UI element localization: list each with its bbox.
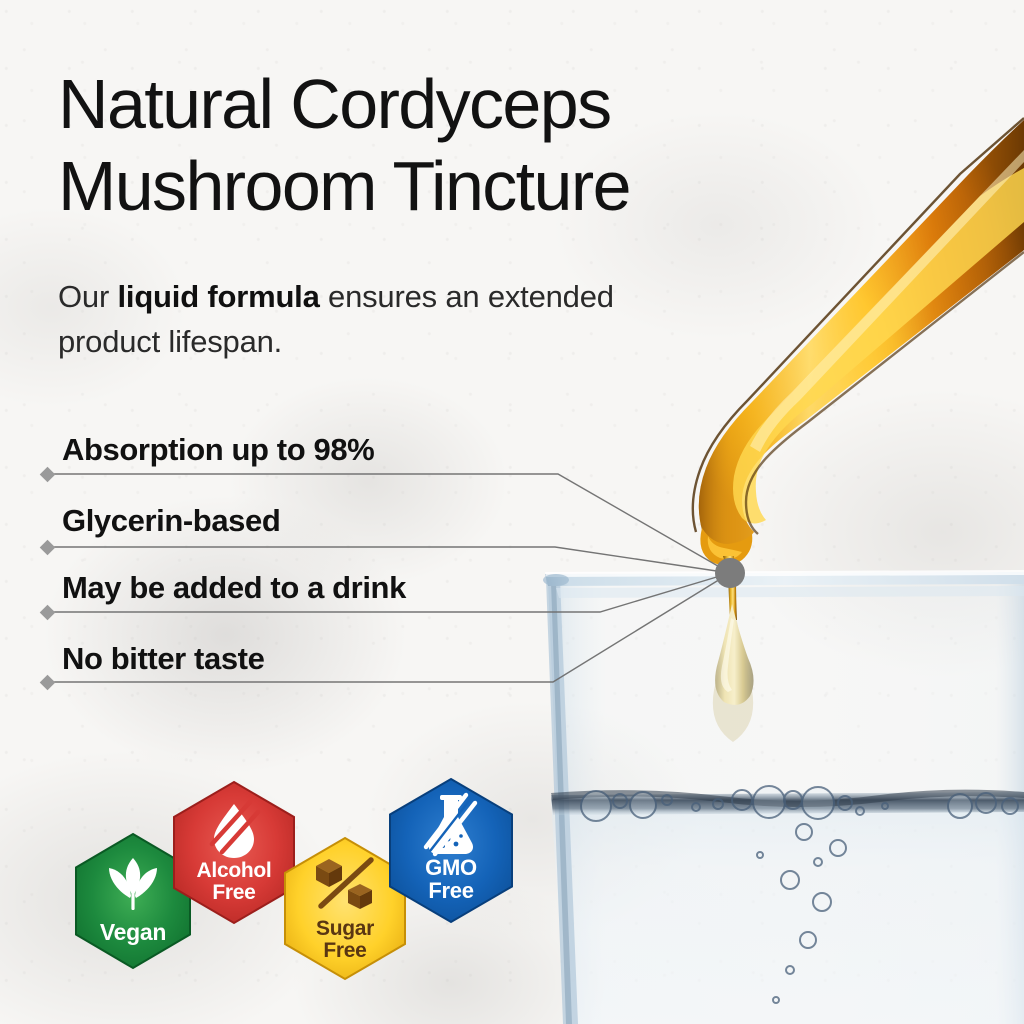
gmo-free-hexagon-shape [386,777,516,924]
subtitle: Our liquid formula ensures an extended p… [58,274,618,364]
feature-label-no-bitter-taste: No bitter taste [62,641,264,677]
alcohol-free-hexagon-shape [170,780,298,925]
badge-gmo-free: GMO Free [386,777,516,924]
page-title: Natural Cordyceps Mushroom Tincture [58,63,818,227]
feature-label-glycerin: Glycerin-based [62,503,280,539]
infographic-canvas: Natural Cordyceps Mushroom Tincture Our … [0,0,1024,1024]
feature-label-absorption: Absorption up to 98% [62,432,374,468]
subtitle-prefix: Our [58,279,118,314]
badge-alcohol-free: Alcohol Free [170,780,298,925]
feature-label-add-to-drink: May be added to a drink [62,570,406,606]
subtitle-emphasis: liquid formula [118,279,320,314]
